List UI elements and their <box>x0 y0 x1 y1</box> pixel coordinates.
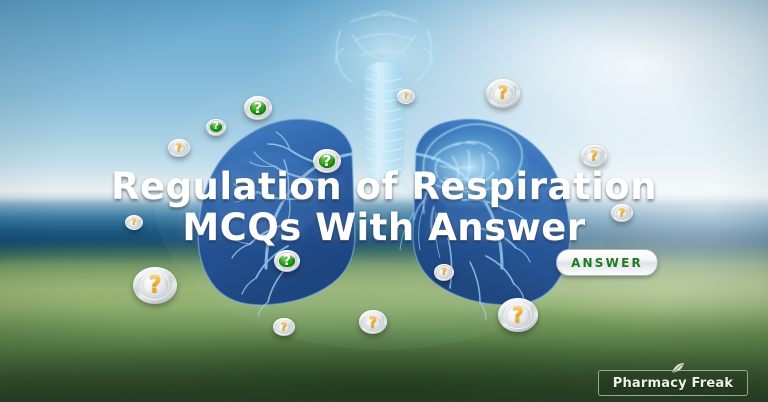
badge-face: ? <box>586 150 601 163</box>
vignette-overlay <box>0 0 768 402</box>
question-badge-12[interactable]: ? <box>434 264 454 281</box>
question-mark-icon: ? <box>590 149 598 163</box>
watermark-brand: Pharmacy Freak <box>598 370 748 396</box>
question-badge-3[interactable]: ? <box>168 139 190 157</box>
question-badge-2[interactable]: ? <box>206 119 226 136</box>
badge-face: ? <box>493 85 513 102</box>
badge-face: ? <box>210 122 222 132</box>
question-mark-icon: ? <box>619 207 625 218</box>
question-badge-13[interactable]: ? <box>498 298 538 332</box>
question-mark-icon: ? <box>283 254 291 268</box>
question-badge-7[interactable]: ? <box>581 145 607 167</box>
question-mark-icon: ? <box>403 92 408 101</box>
question-mark-icon: ? <box>213 122 219 132</box>
answer-button[interactable]: ANSWER <box>556 249 658 276</box>
question-mark-icon: ? <box>176 142 182 153</box>
question-badge-9[interactable]: ? <box>611 204 633 222</box>
watermark-label: Pharmacy Freak <box>613 376 734 391</box>
question-mark-icon: ? <box>281 321 287 332</box>
badge-face: ? <box>438 267 450 277</box>
question-mark-icon: ? <box>254 101 263 116</box>
question-mark-icon: ? <box>512 305 524 326</box>
question-badge-11[interactable]: ? <box>274 250 300 272</box>
question-mark-icon: ? <box>148 274 161 297</box>
question-mark-icon: ? <box>323 154 332 169</box>
featured-image-canvas: ??????????????? Regulation of Respiratio… <box>0 0 768 402</box>
answer-button-label: ANSWER <box>571 256 643 270</box>
question-mark-icon: ? <box>369 315 378 330</box>
badge-face: ? <box>142 274 168 295</box>
question-mark-icon: ? <box>441 267 447 277</box>
badge-face: ? <box>506 305 529 325</box>
question-mark-icon: ? <box>131 218 136 227</box>
badge-face: ? <box>279 255 294 268</box>
question-mark-icon: ? <box>498 84 508 102</box>
question-badge-6[interactable]: ? <box>486 79 520 108</box>
question-badge-14[interactable]: ? <box>273 318 295 336</box>
question-badge-10[interactable]: ? <box>133 267 177 304</box>
